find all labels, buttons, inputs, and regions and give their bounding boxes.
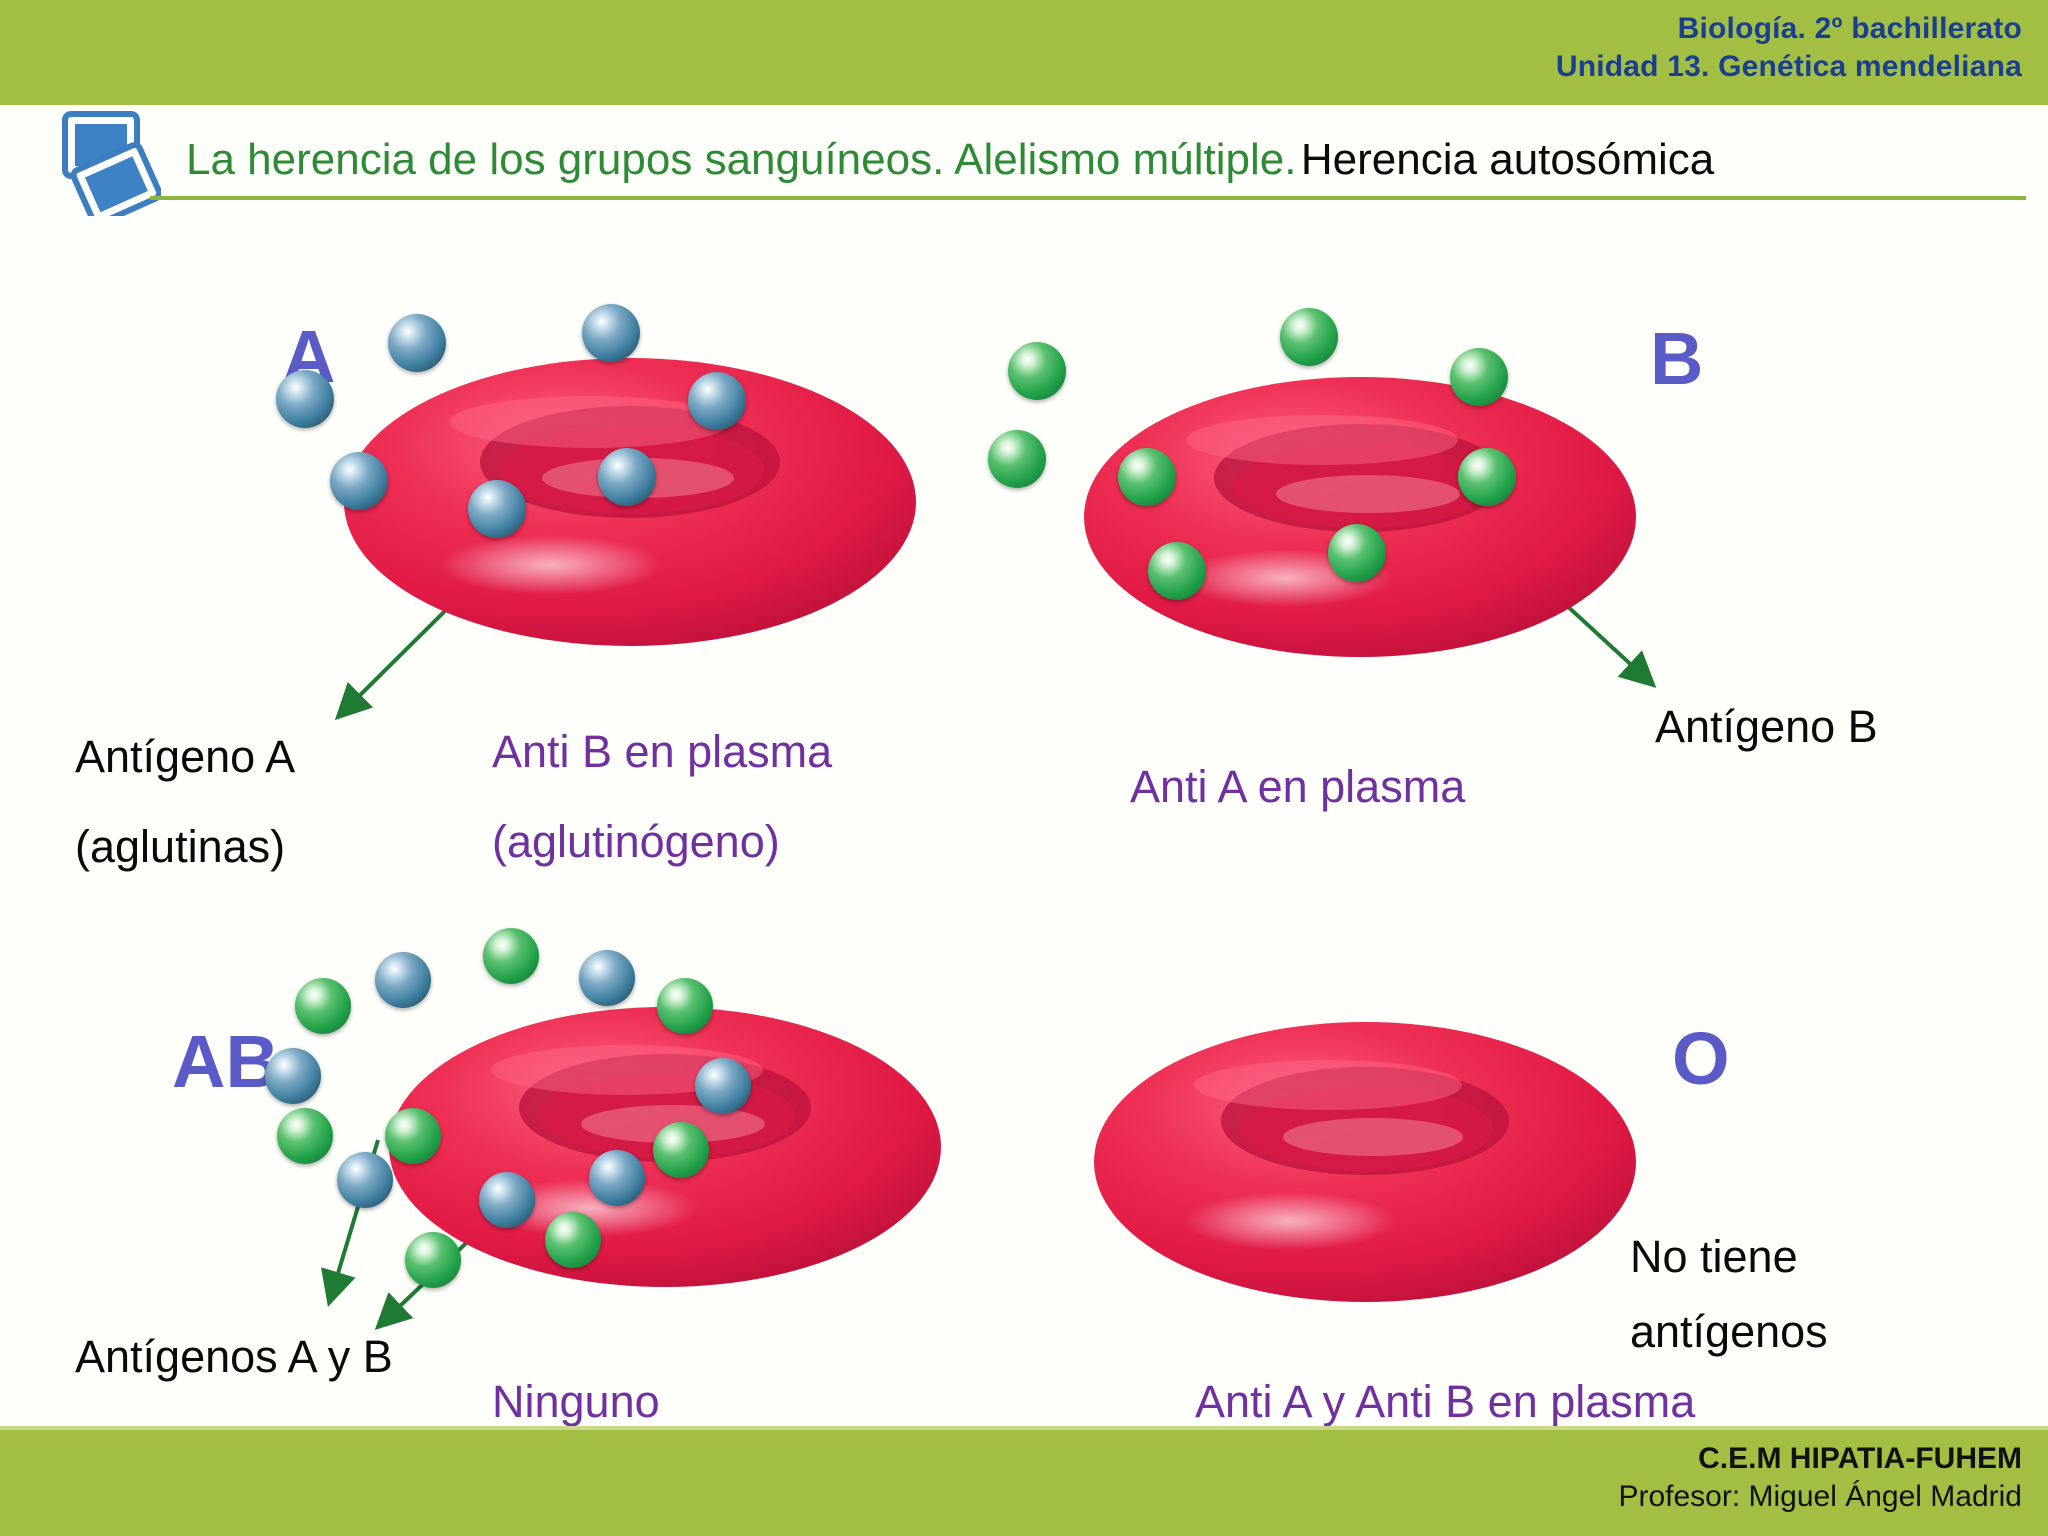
antigen-b-sphere (988, 430, 1046, 488)
antigen-a-sphere (688, 372, 746, 430)
antigen-a-sphere (468, 480, 526, 538)
antigen-b-sphere (483, 928, 539, 984)
antigen-b-sphere (1450, 348, 1508, 406)
group-letter-o: O (1672, 1022, 1730, 1096)
antigen-a-sphere (479, 1172, 535, 1228)
header-band: Biología. 2º bachillerato Unidad 13. Gen… (0, 0, 2048, 105)
antigen-a-sphere (582, 304, 640, 362)
antigen-a-label-line2: (aglutinas) (75, 820, 285, 873)
red-blood-cell-o (1090, 1015, 1640, 1305)
plasma-a-label-line2: (aglutinógeno) (492, 815, 780, 868)
red-blood-cell-a (340, 350, 920, 650)
plasma-o-label: Anti A y Anti B en plasma (1195, 1375, 1695, 1428)
plasma-ab-label: Ninguno (492, 1375, 660, 1428)
red-blood-cell-ab (385, 1000, 945, 1290)
slide: Biología. 2º bachillerato Unidad 13. Gen… (0, 0, 2048, 1536)
header-text: Biología. 2º bachillerato Unidad 13. Gen… (1556, 10, 2022, 85)
antigen-a-sphere (598, 448, 656, 506)
antigen-a-sphere (579, 950, 635, 1006)
group-letter-ab: AB (172, 1025, 279, 1099)
antigen-b-sphere (295, 978, 351, 1034)
header-line-1: Biología. 2º bachillerato (1556, 10, 2022, 48)
page-title-green: La herencia de los grupos sanguíneos. Al… (186, 135, 1296, 184)
antigen-a-sphere (330, 452, 388, 510)
antigen-a-sphere (589, 1150, 645, 1206)
header-line-2: Unidad 13. Genética mendeliana (1556, 48, 2022, 86)
antigen-o-label-line2: antígenos (1630, 1305, 1828, 1358)
plasma-a-label-line1: Anti B en plasma (492, 725, 832, 778)
antigen-b-sphere (1280, 308, 1338, 366)
slides-image-icon (55, 108, 161, 216)
antigen-b-sphere (653, 1122, 709, 1178)
antigen-a-sphere (265, 1048, 321, 1104)
antigen-ab-label: Antígenos A y B (75, 1330, 393, 1383)
antigen-a-sphere (695, 1058, 751, 1114)
antigen-a-label-line1: Antígeno A (75, 730, 295, 783)
antigen-b-sphere (657, 978, 713, 1034)
footer-band: C.E.M HIPATIA-FUHEM Profesor: Miguel Áng… (0, 1430, 2048, 1536)
antigen-a-sphere (337, 1152, 393, 1208)
antigen-b-sphere (1148, 542, 1206, 600)
title-underline (150, 196, 2026, 200)
footer-text: C.E.M HIPATIA-FUHEM Profesor: Miguel Áng… (1618, 1440, 2022, 1517)
antigen-b-sphere (1118, 448, 1176, 506)
antigen-a-sphere (375, 952, 431, 1008)
antigen-o-label-line1: No tiene (1630, 1230, 1798, 1283)
antigen-b-sphere (1458, 448, 1516, 506)
antigen-b-sphere (385, 1108, 441, 1164)
antigen-b-sphere (545, 1212, 601, 1268)
antigen-b-sphere (1328, 524, 1386, 582)
footer-line-1: C.E.M HIPATIA-FUHEM (1618, 1440, 2022, 1478)
page-title: La herencia de los grupos sanguíneos. Al… (186, 128, 2026, 192)
page-title-black: Herencia autosómica (1301, 135, 1714, 184)
group-letter-b: B (1650, 322, 1703, 396)
red-blood-cell-b (1080, 370, 1640, 660)
antigen-b-sphere (1008, 342, 1066, 400)
antigen-a-sphere (388, 314, 446, 372)
plasma-b-label-line1: Anti A en plasma (1130, 760, 1465, 813)
antigen-a-sphere (276, 370, 334, 428)
antigen-b-sphere (277, 1108, 333, 1164)
antigen-b-label-line1: Antígeno B (1655, 700, 1878, 753)
footer-line-2: Profesor: Miguel Ángel Madrid (1618, 1478, 2022, 1516)
antigen-b-sphere (405, 1232, 461, 1288)
